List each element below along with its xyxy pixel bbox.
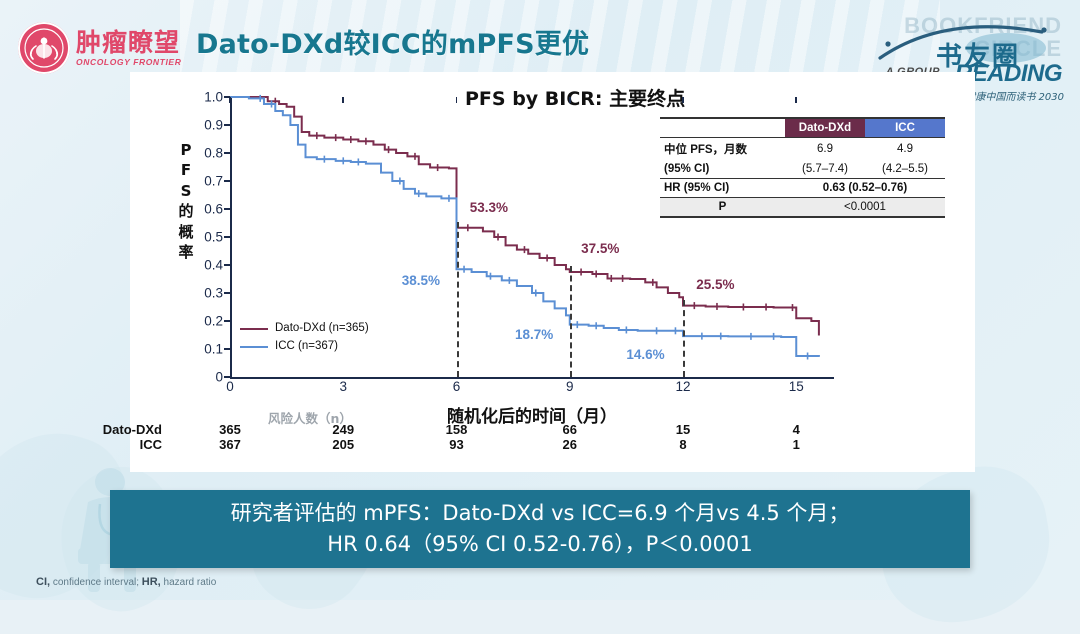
oncology-frontier-logo: 肿瘤瞭望 ONCOLOGY FRONTIER (18, 22, 181, 74)
risk-value: 1 (793, 437, 800, 452)
risk-value: 365 (219, 422, 241, 437)
risk-value: 26 (563, 437, 577, 452)
risk-value: 158 (446, 422, 468, 437)
risk-row-label: ICC (140, 437, 170, 452)
curve-annotation: 37.5% (581, 241, 619, 256)
results-col-dato: Dato-DXd (785, 118, 865, 138)
footnote-ci-def: confidence interval; (50, 577, 142, 588)
y-axis-label: PFS的概率 (175, 140, 197, 262)
risk-value: 8 (679, 437, 686, 452)
number-at-risk-table: Dato-DXd36524915866154ICC367205932681 (170, 422, 860, 452)
risk-value: 93 (449, 437, 463, 452)
summary-line-1: 研究者评估的 mPFS：Dato-DXd vs ICC=6.9 个月vs 4.5… (231, 498, 850, 530)
x-tick-mark (342, 97, 344, 103)
x-tick-label: 0 (226, 379, 234, 394)
x-tick-mark (456, 97, 458, 103)
y-tick-mark (224, 152, 230, 154)
table-row: (95% CI) (5.7–7.4) (4.2–5.5) (660, 160, 945, 179)
risk-table-row: Dato-DXd36524915866154 (170, 422, 860, 437)
footnote-hr-def: hazard ratio (161, 577, 217, 588)
y-tick-mark (224, 264, 230, 266)
legend-swatch (240, 328, 268, 330)
hr-value: 0.63 (0.52–0.76) (785, 179, 945, 198)
footnote-hr-abbr: HR, (142, 576, 161, 588)
x-tick-label: 6 (453, 379, 461, 394)
chart-legend: Dato-DXd (n=365)ICC (n=367) (240, 320, 369, 356)
curve-annotation: 14.6% (626, 347, 664, 362)
reference-line-12mo (683, 300, 685, 377)
x-tick-mark (795, 97, 797, 103)
x-tick-label: 9 (566, 379, 574, 394)
y-axis-label-char: 的 (178, 201, 193, 221)
summary-banner: 研究者评估的 mPFS：Dato-DXd vs ICC=6.9 个月vs 4.5… (110, 490, 970, 568)
x-axis-line (230, 377, 834, 379)
crab-emblem-icon (18, 22, 70, 74)
y-axis-label-char: F (181, 160, 191, 180)
y-tick-mark (224, 348, 230, 350)
x-tick-label: 15 (789, 379, 804, 394)
legend-item: Dato-DXd (n=365) (240, 320, 369, 338)
median-pfs-ci-label: (95% CI) (660, 160, 785, 179)
table-row: 中位 PFS，月数 6.9 4.9 (660, 138, 945, 161)
results-col-icc: ICC (865, 118, 945, 138)
risk-value: 66 (563, 422, 577, 437)
y-tick-mark (224, 180, 230, 182)
footnote: CI, confidence interval; HR, hazard rati… (36, 576, 216, 588)
x-tick-mark (229, 97, 231, 103)
legend-label: Dato-DXd (n=365) (275, 320, 369, 338)
x-tick-label: 3 (339, 379, 347, 394)
p-value: <0.0001 (785, 198, 945, 218)
median-pfs-ci-icc: (4.2–5.5) (865, 160, 945, 179)
median-pfs-dato: 6.9 (785, 138, 865, 161)
risk-value: 205 (332, 437, 354, 452)
footnote-ci-abbr: CI, (36, 576, 50, 588)
y-axis-label-char: S (181, 181, 192, 201)
y-tick-mark (224, 320, 230, 322)
summary-line-2: HR 0.64（95% CI 0.52-0.76），P＜0.0001 (327, 529, 752, 561)
x-tick-label: 12 (675, 379, 690, 394)
curve-annotation: 38.5% (402, 273, 440, 288)
y-tick-mark (224, 208, 230, 210)
legend-item: ICC (n=367) (240, 338, 369, 356)
risk-value: 15 (676, 422, 690, 437)
chart-panel: PFS by BICR: 主要终点 PFS的概率 1.00.90.80.70.6… (130, 72, 975, 472)
median-pfs-ci-dato: (5.7–7.4) (785, 160, 865, 179)
logo-left-english: ONCOLOGY FRONTIER (76, 58, 181, 67)
curve-annotation: 18.7% (515, 327, 553, 342)
risk-table-row: ICC367205932681 (170, 437, 860, 452)
hr-label: HR (95% CI) (660, 179, 785, 198)
logo-right-tagline: 健康中国而读书 2030 (965, 88, 1064, 103)
y-tick-mark (224, 376, 230, 378)
y-axis-label-char: P (181, 140, 192, 160)
reference-line-9mo (570, 266, 572, 377)
results-table: Dato-DXd ICC 中位 PFS，月数 6.9 4.9 (95% CI) … (660, 117, 945, 218)
results-table-corner (660, 118, 785, 138)
table-row: P <0.0001 (660, 198, 945, 218)
reference-line-6mo (457, 222, 459, 377)
y-axis-label-char: 概 (178, 222, 193, 242)
risk-value: 367 (219, 437, 241, 452)
risk-value: 249 (332, 422, 354, 437)
y-tick-mark (224, 124, 230, 126)
risk-value: 4 (793, 422, 800, 437)
legend-swatch (240, 346, 268, 348)
median-pfs-label: 中位 PFS，月数 (660, 138, 785, 161)
curve-annotation: 25.5% (696, 277, 734, 292)
table-row: HR (95% CI) 0.63 (0.52–0.76) (660, 179, 945, 198)
x-tick-mark (569, 97, 571, 103)
y-tick-mark (224, 292, 230, 294)
curve-annotation: 53.3% (470, 200, 508, 215)
logo-left-chinese: 肿瘤瞭望 (76, 30, 181, 55)
risk-row-label: Dato-DXd (103, 422, 170, 437)
x-tick-mark (682, 97, 684, 103)
median-pfs-icc: 4.9 (865, 138, 945, 161)
y-tick-mark (224, 236, 230, 238)
y-axis-label-char: 率 (178, 242, 193, 262)
legend-label: ICC (n=367) (275, 338, 338, 356)
page-title: Dato-DXd较ICC的mPFS更优 (196, 22, 589, 61)
p-label: P (660, 198, 785, 218)
